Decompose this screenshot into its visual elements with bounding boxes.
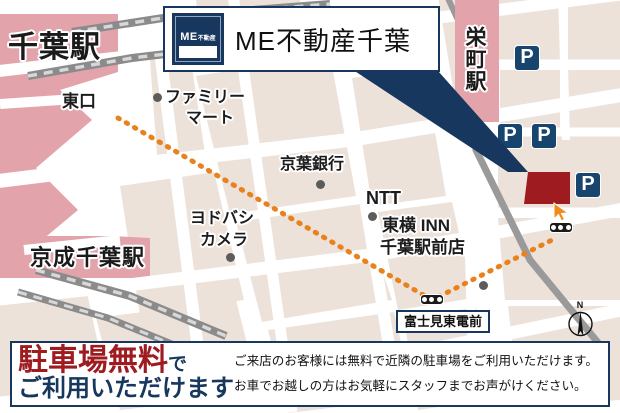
headline-line-1: 駐車場無料で (18, 346, 234, 377)
parking-free-headline: 駐車場無料で ご利用いただけます (12, 346, 234, 403)
map-figure: 栄町駅 千葉駅 京成千葉駅 東口 ファミリー マート 京葉銀行 ヨドバシ カメラ… (0, 0, 620, 413)
logo-bottom-bar (179, 46, 217, 58)
note-line-1: ご来店のお客様には無料で近隣の駐車場をご利用いただけます。 (234, 349, 598, 374)
company-title: ME不動産千葉 (235, 21, 411, 58)
parking-free-note: ご来店のお客様には無料で近隣の駐車場をご利用いただけます。 お車でお越しの方はお… (234, 349, 598, 398)
logo-text-me: ME (180, 31, 198, 43)
logo-text: ME不動産 (173, 31, 223, 43)
logo-text-jp: 不動産 (198, 36, 216, 42)
company-banner: ME不動産 ME不動産千葉 (163, 6, 440, 72)
headline-suffix: で (168, 354, 187, 375)
headline-emphasis: 駐車場無料 (18, 344, 168, 377)
parking-free-banner: 駐車場無料で ご利用いただけます ご来店のお客様には無料で近隣の駐車場をご利用い… (10, 341, 610, 407)
headline-line-2: ご利用いただけます (18, 376, 234, 402)
company-logo: ME不動産 (172, 13, 224, 65)
note-line-2: お車でお越しの方はお気軽にスタッフまでお声がけください。 (234, 374, 598, 399)
